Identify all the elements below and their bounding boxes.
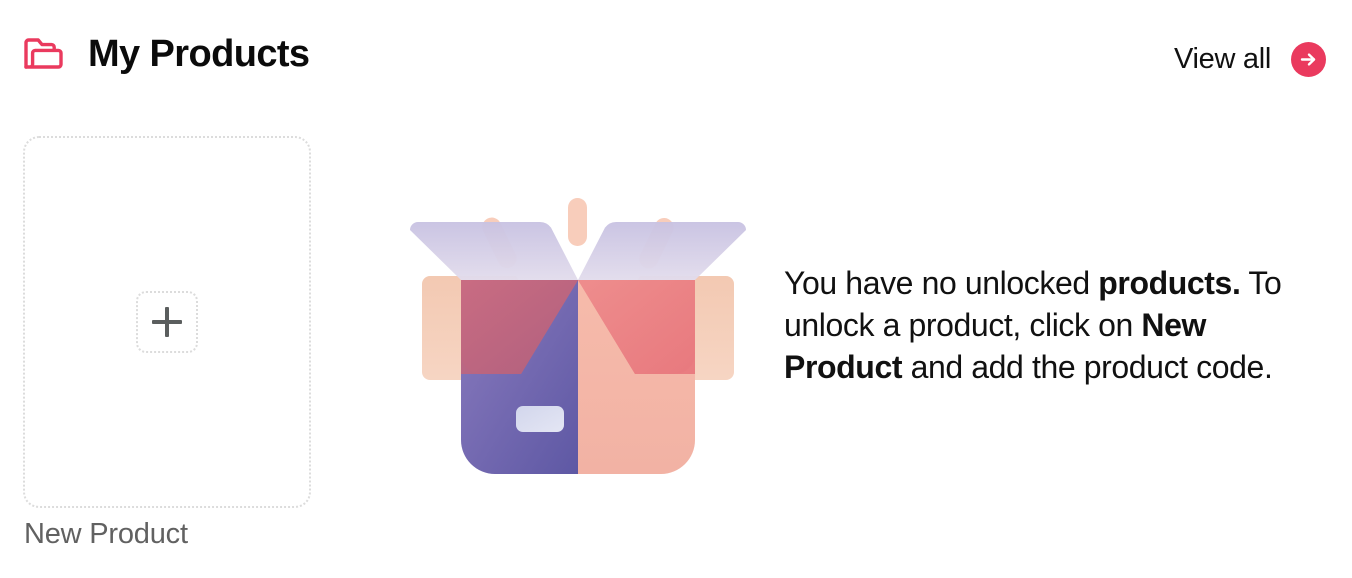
folder-open-icon bbox=[22, 34, 66, 74]
view-all-button[interactable]: View all bbox=[1174, 42, 1326, 77]
page-header: My Products View all bbox=[0, 0, 1352, 122]
empty-message-products-bold: products. bbox=[1098, 265, 1240, 301]
page-title: My Products bbox=[88, 35, 309, 73]
arrow-right-circle-icon[interactable] bbox=[1291, 42, 1326, 77]
empty-message-line3-suffix: and add the bbox=[902, 349, 1075, 385]
empty-message-line1-prefix: You have no unlocked bbox=[784, 265, 1098, 301]
box-tape-label bbox=[516, 406, 564, 432]
open-box-illustration bbox=[404, 184, 752, 514]
new-product-label: New Product bbox=[24, 518, 188, 551]
new-product-card[interactable] bbox=[23, 136, 311, 508]
view-all-label: View all bbox=[1174, 43, 1271, 76]
plus-icon bbox=[152, 307, 182, 337]
add-product-target[interactable] bbox=[136, 291, 198, 353]
header-title-group: My Products bbox=[22, 34, 309, 74]
empty-message-line4: product code. bbox=[1084, 349, 1273, 385]
empty-state-message: You have no unlocked products. To unlock… bbox=[784, 262, 1329, 388]
